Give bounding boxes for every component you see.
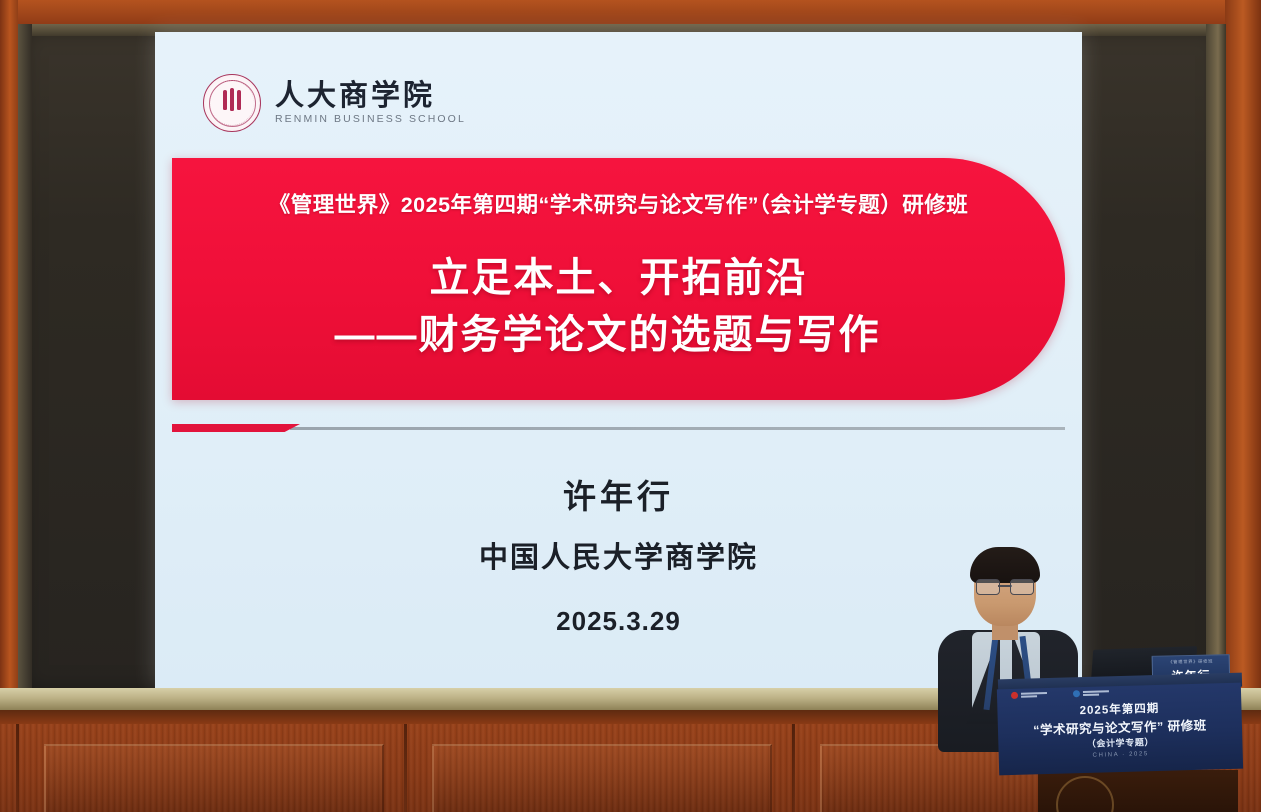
logo-bars bbox=[1021, 692, 1047, 698]
logo-bars bbox=[1083, 690, 1109, 696]
presenter-name: 许年行 bbox=[155, 470, 1082, 518]
slide-title-line2: ——财务学论文的选题与写作 bbox=[155, 307, 1065, 364]
renmin-university-seal-icon bbox=[203, 74, 261, 132]
slide-title-line1: 立足本土、开拓前沿 bbox=[430, 256, 808, 300]
school-name-cn: 人大商学院 bbox=[275, 81, 466, 111]
screen-bevel-left bbox=[18, 24, 32, 696]
title-banner: 《管理世界》2025年第四期“学术研究与论文写作”（会计学专题）研修班 立足本土… bbox=[172, 158, 1065, 400]
logo-dot bbox=[1073, 690, 1080, 697]
glasses-icon bbox=[976, 579, 1034, 594]
seal-figure bbox=[223, 90, 228, 110]
wall-panel bbox=[432, 744, 772, 812]
rule-gray-segment bbox=[290, 427, 1065, 430]
glasses-lens-right bbox=[1010, 579, 1034, 595]
decorative-rule bbox=[172, 424, 1065, 432]
lectern-banner: 2025年第四期 “学术研究与论文写作” 研修班 （会计学专题） CHINA ·… bbox=[997, 683, 1243, 776]
panel-seam bbox=[792, 724, 795, 812]
lectern-logo-row bbox=[1011, 689, 1109, 699]
school-logo-lockup: 人大商学院 RENMIN BUSINESS SCHOOL bbox=[203, 74, 466, 132]
panel-seam bbox=[16, 724, 19, 812]
school-logo-text: 人大商学院 RENMIN BUSINESS SCHOOL bbox=[275, 81, 466, 125]
seal-figures bbox=[204, 90, 260, 111]
school-name-en: RENMIN BUSINESS SCHOOL bbox=[275, 113, 466, 125]
nameplate-top-label: 《管理世界》研修班 bbox=[1153, 658, 1229, 666]
seal-figure bbox=[230, 88, 235, 111]
screen-bevel-right bbox=[1206, 24, 1226, 696]
seal-figure bbox=[237, 90, 242, 110]
course-subtitle: 《管理世界》2025年第四期“学术研究与论文写作”（会计学专题）研修班 bbox=[172, 188, 1065, 219]
panel-seam bbox=[404, 724, 407, 812]
glasses-lens-left bbox=[976, 579, 1000, 595]
lecture-hall-scene: 人大商学院 RENMIN BUSINESS SCHOOL 《管理世界》2025年… bbox=[0, 0, 1261, 812]
lectern: 2025年第四期 “学术研究与论文写作” 研修班 （会计学专题） CHINA ·… bbox=[1004, 676, 1236, 812]
wall-top-band bbox=[0, 0, 1261, 26]
wall-panel bbox=[44, 744, 384, 812]
slide-title: 立足本土、开拓前沿 ——财务学论文的选题与写作 bbox=[172, 250, 1065, 364]
journal-logo-icon bbox=[1011, 691, 1047, 699]
rule-red-segment bbox=[172, 424, 300, 432]
university-logo-icon bbox=[1073, 689, 1109, 697]
speaker-hair bbox=[970, 547, 1040, 583]
logo-dot bbox=[1011, 692, 1018, 699]
